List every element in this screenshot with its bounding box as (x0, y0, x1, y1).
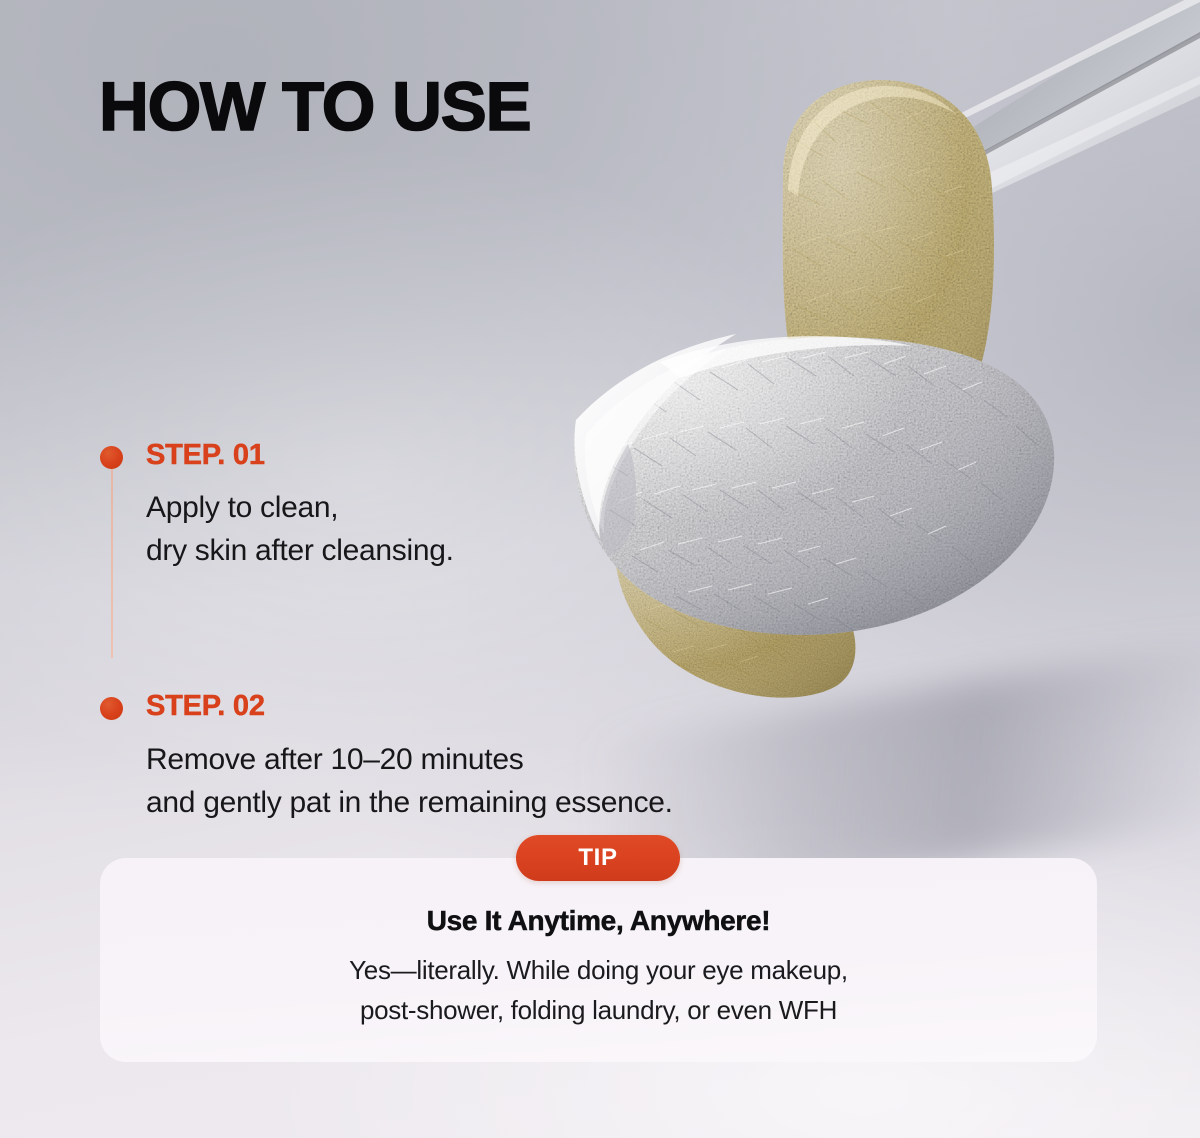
tip-body-text: Yes—literally. While doing your eye make… (100, 951, 1097, 1030)
step-description: Remove after 10–20 minutes and gently pa… (146, 739, 880, 825)
step-description: Apply to clean, dry skin after cleansing… (146, 487, 880, 573)
gold-patch-upper (770, 70, 1010, 450)
step-item-02: STEP. 02 Remove after 10–20 minutes and … (100, 691, 880, 824)
tip-badge: TIP (516, 835, 680, 881)
tweezers (789, 0, 1200, 362)
step-label: STEP. 01 (146, 440, 880, 470)
step-bullet-icon (100, 697, 123, 720)
infographic-page: HOW TO USE STEP. 01 Apply to clean, dry … (0, 0, 1200, 1138)
steps-list: STEP. 01 Apply to clean, dry skin after … (100, 440, 880, 824)
tip-heading: Use It Anytime, Anywhere! (100, 905, 1097, 937)
page-title: HOW TO USE (99, 72, 530, 141)
step-item-01: STEP. 01 Apply to clean, dry skin after … (100, 440, 880, 573)
step-bullet-icon (100, 446, 123, 469)
tip-card: Use It Anytime, Anywhere! Yes—literally.… (100, 858, 1097, 1062)
step-label: STEP. 02 (146, 691, 880, 721)
tip-card-content: Use It Anytime, Anywhere! Yes—literally.… (100, 905, 1097, 1030)
